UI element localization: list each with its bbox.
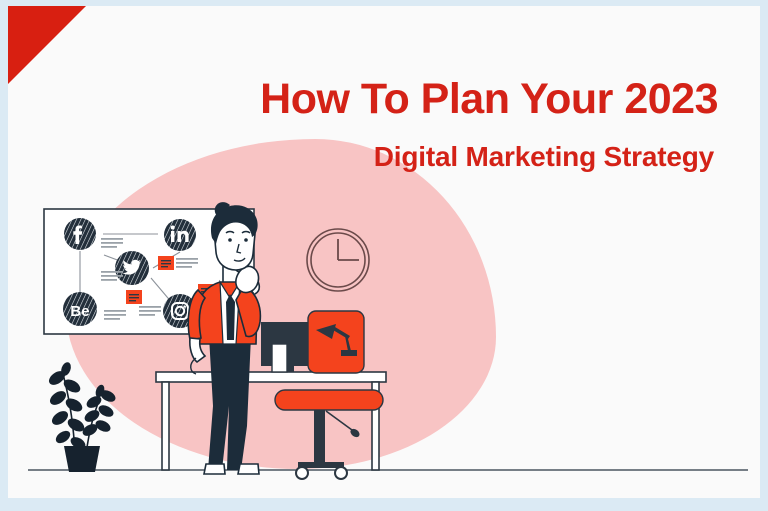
facebook-icon — [64, 218, 96, 250]
coffee-cup — [272, 344, 287, 372]
poster-inner: Be — [8, 6, 760, 498]
wall-clock-icon — [307, 229, 369, 291]
page-subtitle: Digital Marketing Strategy — [374, 143, 714, 171]
desk — [156, 372, 386, 470]
svg-text:Be: Be — [70, 303, 89, 320]
poster-canvas: Be — [0, 0, 768, 511]
potted-plant — [46, 361, 117, 472]
behance-icon: Be — [63, 292, 97, 326]
page-title: How To Plan Your 2023 — [260, 78, 718, 121]
twitter-icon — [115, 251, 149, 285]
red-corner-ribbon — [8, 6, 86, 84]
linkedin-icon — [164, 219, 196, 251]
